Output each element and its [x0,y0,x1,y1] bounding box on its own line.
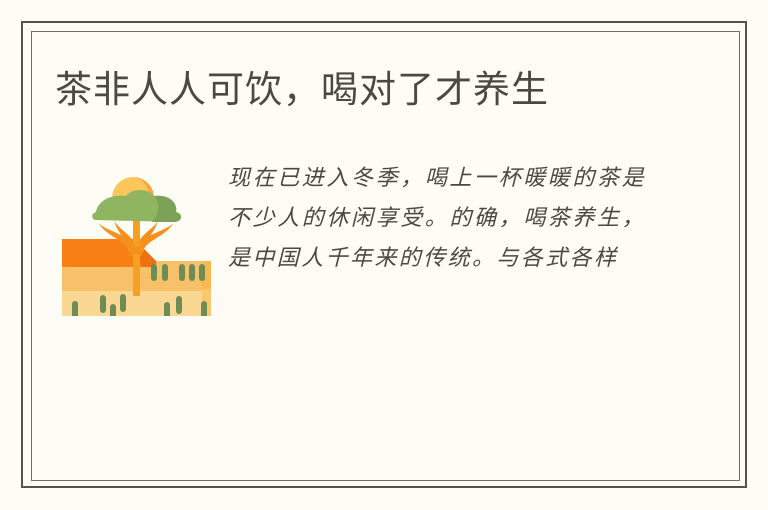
article-body-text: 现在已进入冬季，喝上一杯暖暖的茶是不少人的休闲享受。的确，喝茶养生，是中国人千年… [228,159,646,279]
savanna-illustration [56,136,216,316]
article-card: 茶非人人可饮，喝对了才养生 [0,0,768,510]
card-content: 茶非人人可饮，喝对了才养生 [31,31,740,481]
page-title: 茶非人人可饮，喝对了才养生 [55,67,549,113]
